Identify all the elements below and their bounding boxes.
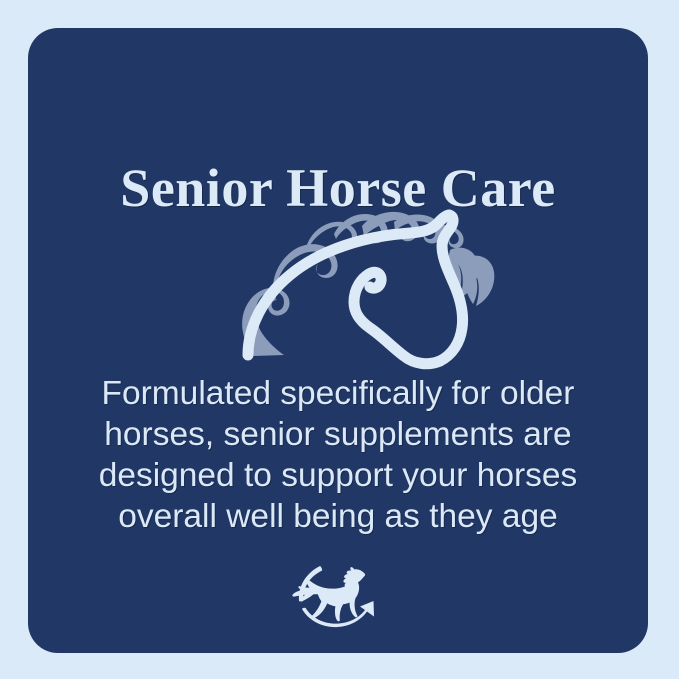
body-line: Formulated specifically for older [58,373,618,414]
content-card: Senior Horse Care [28,28,648,653]
body-line: overall well being as they age [58,496,618,537]
body-line: horses, senior supplements are [58,414,618,455]
horse-head-outline-icon [214,188,514,373]
body-copy: Formulated specifically for older horses… [58,373,618,537]
poster-canvas: Senior Horse Care [0,0,679,679]
body-line: designed to support your horses [58,455,618,496]
galloping-horse-circle-logo [286,556,390,632]
